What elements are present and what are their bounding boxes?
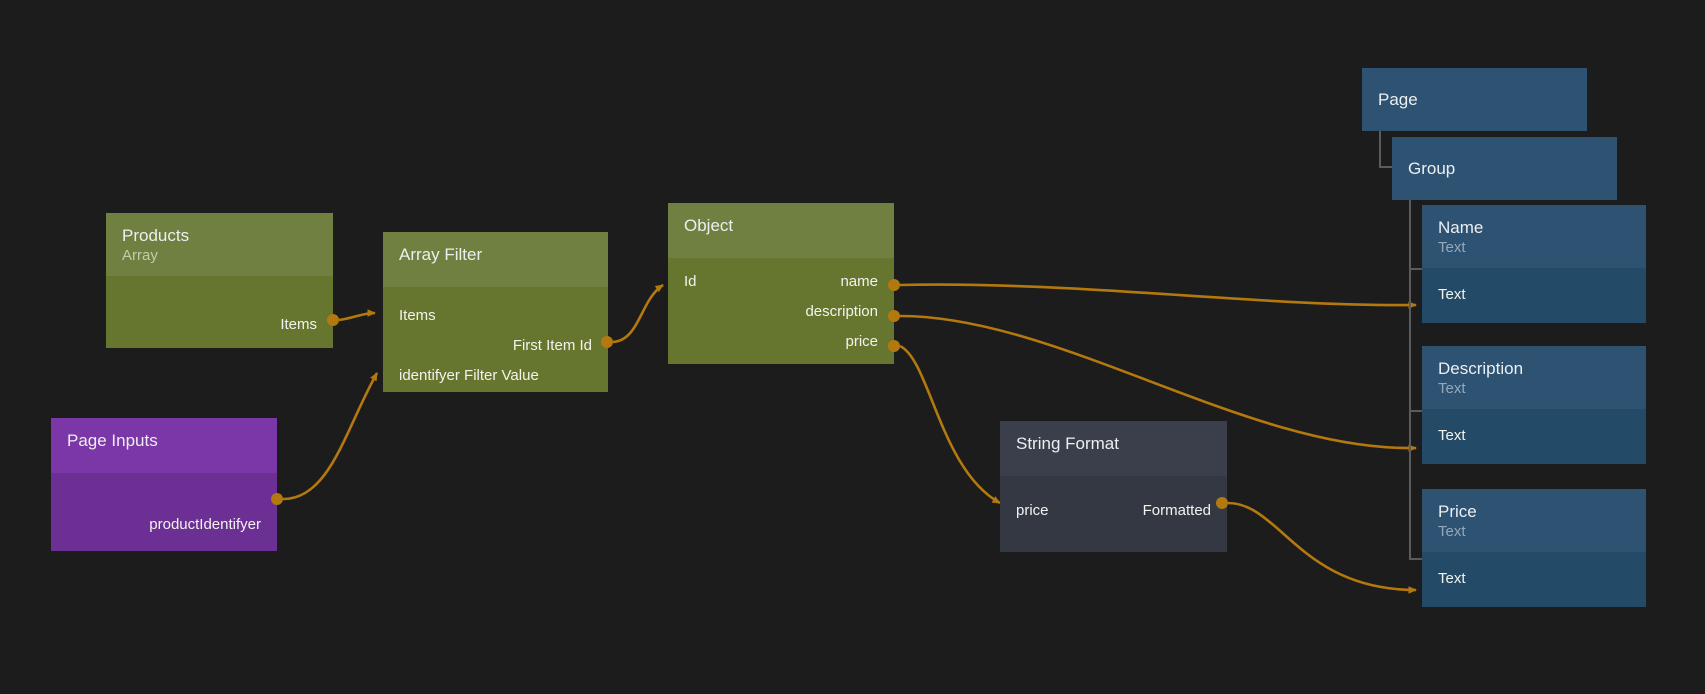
tree-line-group-to-price [1409, 558, 1422, 560]
node-name-element-title: Name [1438, 217, 1630, 238]
port-dot-array-filter-first-item-id[interactable] [601, 336, 613, 348]
port-object-name[interactable]: name [652, 266, 894, 296]
node-description-element-header: Description Text [1422, 346, 1646, 409]
port-array-filter-items[interactable]: Items [383, 300, 608, 330]
wire-object-name-to-name-element [900, 285, 1416, 306]
port-products-items[interactable]: Items [106, 310, 333, 340]
port-label-formatted: Formatted [1143, 502, 1211, 519]
port-description-element-text[interactable]: Text [1422, 421, 1646, 451]
node-name-element-body: Text [1422, 268, 1646, 323]
node-string-format-body: price Formatted [1000, 476, 1227, 552]
tree-line-page-to-group-horizontal [1379, 166, 1392, 168]
wire-stringformat-to-price-element [1228, 503, 1416, 590]
node-price-element-subtitle: Text [1438, 522, 1630, 542]
node-array-filter-header: Array Filter [383, 232, 608, 287]
node-description-element-subtitle: Text [1438, 379, 1630, 399]
node-page-inputs-title: Page Inputs [67, 430, 261, 451]
port-dot-object-description[interactable] [888, 310, 900, 322]
node-string-format[interactable]: String Format price Formatted [1000, 421, 1227, 552]
wire-object-price-to-stringformat [900, 346, 1000, 503]
wire-pageinputs-to-arrayfilter [283, 373, 377, 499]
node-object-header: Object [668, 203, 894, 258]
port-name-element-text[interactable]: Text [1422, 280, 1646, 310]
node-name-element[interactable]: Name Text Text [1422, 205, 1646, 323]
node-string-format-header: String Format [1000, 421, 1227, 476]
port-price-element-text[interactable]: Text [1422, 564, 1646, 594]
port-label-price: price [845, 333, 878, 350]
node-group-header: Group [1392, 137, 1617, 200]
node-page-inputs-header: Page Inputs [51, 418, 277, 473]
port-label-description: description [805, 303, 878, 320]
port-label-text: Text [1438, 286, 1466, 303]
port-label-text: Text [1438, 570, 1466, 587]
node-page-header: Page [1362, 68, 1587, 131]
node-array-filter[interactable]: Array Filter Items First Item Id identif… [383, 232, 608, 392]
node-array-filter-body: Items First Item Id identifyer Filter Va… [383, 287, 608, 392]
port-dot-object-price[interactable] [888, 340, 900, 352]
port-label-name: name [840, 273, 878, 290]
port-label-identifyer-filter-value: identifyer Filter Value [399, 367, 539, 384]
port-label-items: Items [399, 307, 436, 324]
node-page[interactable]: Page [1362, 68, 1587, 131]
node-products-title: Products [122, 225, 317, 246]
node-products-header: Products Array [106, 213, 333, 276]
node-graph-canvas[interactable]: Products Array Items Array Filter Items … [0, 0, 1705, 694]
port-dot-object-name[interactable] [888, 279, 900, 291]
tree-line-group-trunk [1409, 182, 1411, 560]
port-array-filter-first-item-id[interactable]: First Item Id [383, 330, 608, 360]
node-name-element-subtitle: Text [1438, 238, 1630, 258]
node-products-body: Items [106, 276, 333, 348]
node-string-format-title: String Format [1016, 433, 1211, 454]
node-description-element-title: Description [1438, 358, 1630, 379]
node-products[interactable]: Products Array Items [106, 213, 333, 348]
node-name-element-header: Name Text [1422, 205, 1646, 268]
port-object-price[interactable]: price [652, 326, 894, 356]
node-price-element-title: Price [1438, 501, 1630, 522]
port-object-description[interactable]: description [652, 296, 894, 326]
node-group[interactable]: Group [1392, 137, 1617, 200]
node-price-element-body: Text [1422, 552, 1646, 607]
node-products-subtitle: Array [122, 246, 317, 266]
node-page-inputs-body: productIdentifyer [51, 473, 277, 551]
node-page-title: Page [1378, 89, 1571, 110]
port-label-first-item-id: First Item Id [513, 337, 592, 354]
node-price-element[interactable]: Price Text Text [1422, 489, 1646, 607]
port-page-inputs-product-identifyer[interactable]: productIdentifyer [51, 509, 277, 539]
port-label-items: Items [280, 316, 317, 333]
node-description-element-body: Text [1422, 409, 1646, 464]
node-object[interactable]: Object Id name description price [668, 203, 894, 364]
port-string-format-formatted[interactable]: Formatted [984, 495, 1227, 525]
wire-products-to-arrayfilter [339, 313, 375, 320]
node-group-title: Group [1408, 158, 1601, 179]
port-label-text: Text [1438, 427, 1466, 444]
node-page-inputs[interactable]: Page Inputs productIdentifyer [51, 418, 277, 551]
port-dot-page-inputs-product-identifyer[interactable] [271, 493, 283, 505]
node-price-element-header: Price Text [1422, 489, 1646, 552]
node-object-body: Id name description price [668, 258, 894, 364]
port-dot-products-items[interactable] [327, 314, 339, 326]
port-label-product-identifyer: productIdentifyer [149, 516, 261, 533]
tree-line-group-to-name [1409, 268, 1422, 270]
node-description-element[interactable]: Description Text Text [1422, 346, 1646, 464]
port-dot-string-format-formatted[interactable] [1216, 497, 1228, 509]
tree-line-group-to-description [1409, 410, 1422, 412]
node-object-title: Object [684, 215, 878, 236]
node-array-filter-title: Array Filter [399, 244, 592, 265]
port-array-filter-identifyer-filter-value[interactable]: identifyer Filter Value [383, 360, 608, 390]
